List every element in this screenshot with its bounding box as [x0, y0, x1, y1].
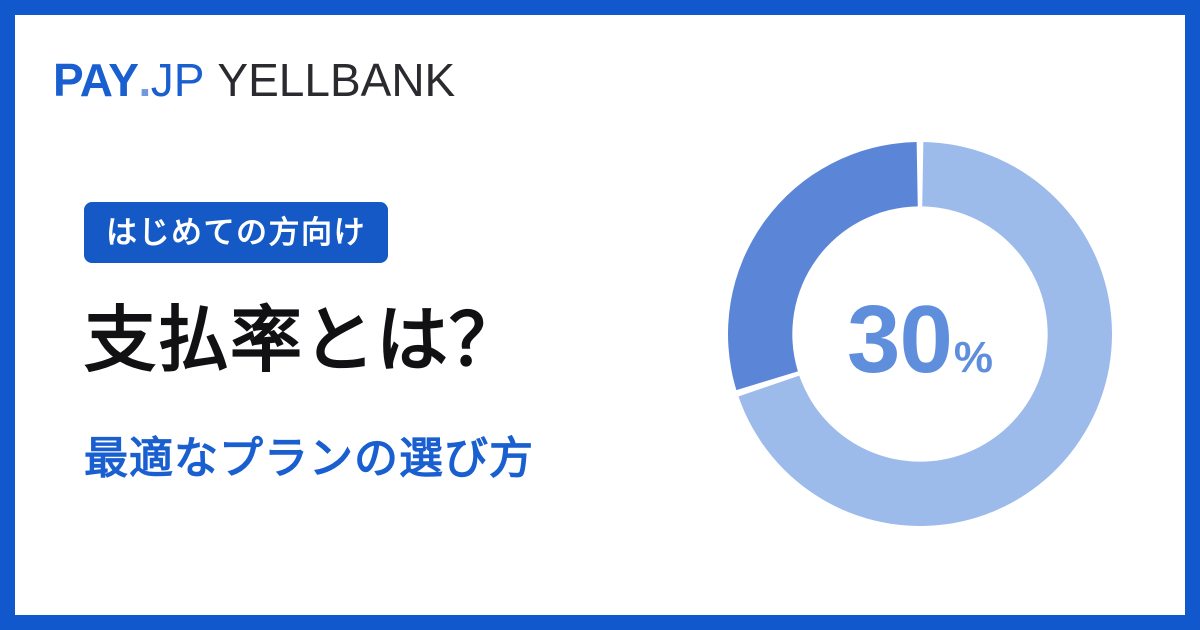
logo-text-pay: PAY — [53, 57, 138, 103]
content-stage: PAY . JP YELLBANK はじめての方向け 支払率とは？ 最適なプラン… — [15, 15, 1185, 615]
donut-slice-group: 支払率 30%残り 70% — [728, 142, 1112, 526]
donut-chart: 支払率 30%残り 70% 30 % — [728, 142, 1112, 526]
frame-border-bottom — [0, 615, 1200, 630]
eyebrow-badge-label: はじめての方向け — [106, 217, 366, 248]
logo-text-dot: . — [138, 57, 150, 103]
logo-text-jp: JP — [151, 57, 205, 103]
eyebrow-badge: はじめての方向け — [84, 202, 388, 263]
frame-border-top — [0, 0, 1200, 15]
page-subtitle: 最適なプランの選び方 — [84, 435, 534, 483]
donut-chart-svg: 支払率 30%残り 70% — [728, 142, 1112, 526]
frame-border-left — [0, 0, 15, 630]
ogp-banner: PAY . JP YELLBANK はじめての方向け 支払率とは？ 最適なプラン… — [0, 0, 1200, 630]
brand-logo: PAY . JP YELLBANK — [53, 57, 455, 103]
page-title: 支払率とは？ — [84, 304, 522, 380]
frame-border-right — [1185, 0, 1200, 630]
donut-slice: 支払率 30% — [728, 142, 918, 390]
logo-text-yellbank: YELLBANK — [217, 57, 455, 103]
